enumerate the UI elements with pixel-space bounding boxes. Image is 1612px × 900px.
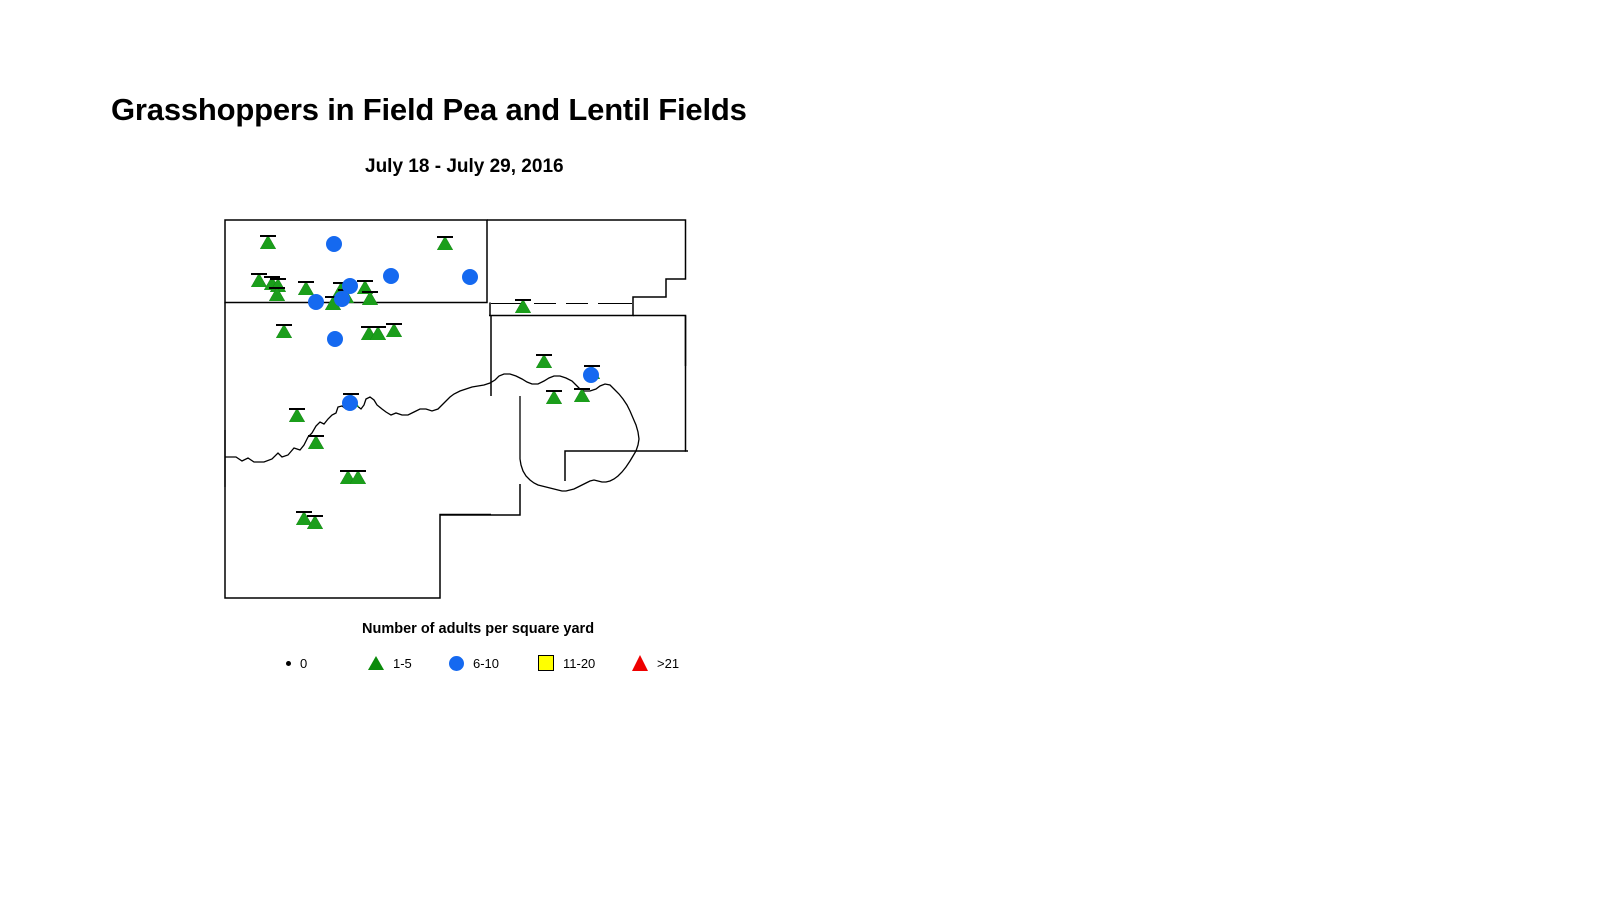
legend-item-1-5[interactable]: 1-5	[368, 652, 412, 674]
marker-triangle-1-5[interactable]	[260, 235, 276, 249]
marker-circle-6-10[interactable]	[308, 294, 324, 310]
page-subtitle: July 18 - July 29, 2016	[365, 156, 564, 178]
marker-triangle-1-5[interactable]	[546, 390, 562, 404]
marker-circle-6-10[interactable]	[383, 268, 399, 284]
marker-triangle-1-5[interactable]	[298, 281, 314, 295]
marker-triangle-1-5[interactable]	[350, 470, 366, 484]
yellow-square-icon	[538, 655, 554, 671]
marker-circle-6-10[interactable]	[327, 331, 343, 347]
legend: 0 1-5 6-10 11-20 >21	[286, 652, 706, 674]
green-triangle-icon	[368, 656, 384, 670]
marker-triangle-1-5[interactable]	[386, 323, 402, 337]
marker-triangle-1-5[interactable]	[370, 326, 386, 340]
red-triangle-icon	[632, 655, 648, 671]
marker-triangle-1-5[interactable]	[289, 408, 305, 422]
marker-triangle-1-5[interactable]	[574, 388, 590, 402]
marker-triangle-1-5[interactable]	[269, 287, 285, 301]
legend-label-over-21: >21	[657, 656, 679, 671]
marker-triangle-1-5[interactable]	[515, 299, 531, 313]
marker-triangle-1-5[interactable]	[437, 236, 453, 250]
marker-triangle-1-5[interactable]	[307, 515, 323, 529]
legend-item-over-21[interactable]: >21	[632, 652, 679, 674]
marker-triangle-1-5[interactable]	[276, 324, 292, 338]
marker-triangle-1-5[interactable]	[362, 291, 378, 305]
legend-label-11-20: 11-20	[563, 656, 595, 671]
legend-label-6-10: 6-10	[473, 656, 499, 671]
map-figure	[224, 219, 688, 601]
marker-circle-6-10[interactable]	[326, 236, 342, 252]
marker-triangle-1-5[interactable]	[536, 354, 552, 368]
marker-circle-6-10[interactable]	[462, 269, 478, 285]
legend-item-0[interactable]: 0	[286, 652, 307, 674]
marker-triangle-1-5[interactable]	[308, 435, 324, 449]
page-title: Grasshoppers in Field Pea and Lentil Fie…	[111, 92, 747, 128]
legend-title: Number of adults per square yard	[362, 621, 594, 637]
legend-label-0: 0	[300, 656, 307, 671]
marker-circle-6-10[interactable]	[334, 291, 350, 307]
legend-label-1-5: 1-5	[393, 656, 412, 671]
map-page: Grasshoppers in Field Pea and Lentil Fie…	[0, 0, 1612, 900]
blue-circle-icon	[449, 656, 464, 671]
marker-circle-6-10[interactable]	[342, 395, 358, 411]
legend-item-6-10[interactable]: 6-10	[449, 652, 499, 674]
legend-item-11-20[interactable]: 11-20	[538, 652, 595, 674]
black-dot-icon	[286, 661, 291, 666]
marker-circle-6-10[interactable]	[583, 367, 599, 383]
